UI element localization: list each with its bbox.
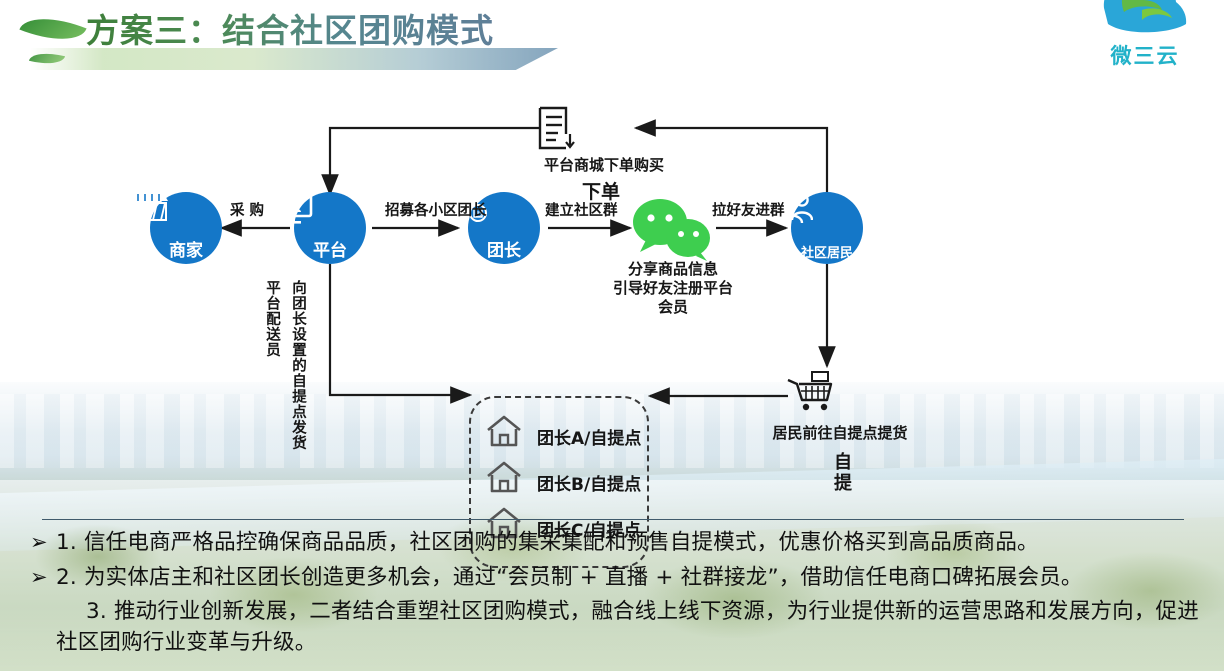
node-residents[interactable]: 社区居民 <box>791 192 863 264</box>
bullet-list: ➢ 1. 信任电商严格品控确保商品品质，社区团购的集采集配和预售自提模式，优惠价… <box>30 528 1210 662</box>
node-merchant[interactable]: 商家 <box>150 192 222 264</box>
bullet-text: 3. 推动行业创新发展，二者结合重塑社区团购模式，融合线上线下资源，为行业提供新… <box>56 597 1210 658</box>
leaf-icon <box>19 5 86 52</box>
brand-logo: 微三云 <box>1084 0 1206 78</box>
node-merchant-label: 商家 <box>150 243 222 260</box>
wechat-icon[interactable] <box>630 196 716 262</box>
page-title: 方案三：结合社区团购模式 <box>86 4 494 52</box>
slide-header: 方案三：结合社区团购模式 微三云 <box>0 0 1224 84</box>
storefront-icon <box>130 192 170 222</box>
note-ship-to-pickup: 向团长设置的自提点发货 <box>288 280 309 496</box>
edge-label-recruit: 招募各小区团长 <box>385 199 487 220</box>
self-pickup-title: 自提 <box>830 453 856 494</box>
flow-diagram: 下单 平台商城下单购买 商家 平台 <box>0 84 1224 504</box>
self-pickup-caption: 居民前往自提点提货 <box>715 424 965 443</box>
order-node-caption: 平台商城下单购买 <box>484 156 724 175</box>
list-item[interactable]: 团长A/自提点 <box>485 414 647 458</box>
pickup-point-label: 团长B/自提点 <box>537 470 641 495</box>
bullet-marker: ➢ <box>30 528 56 558</box>
node-platform-label: 平台 <box>294 243 366 260</box>
edge-label-purchase: 采 购 <box>230 199 264 220</box>
section-divider <box>42 519 1184 520</box>
list-item[interactable]: 团长B/自提点 <box>485 460 647 504</box>
edge-label-build-group: 建立社区群 <box>545 199 618 220</box>
house-icon <box>485 414 523 448</box>
bullet-text: 2. 为实体店主和社区团长创造更多机会，通过“会员制 + 直播 + 社群接龙”，… <box>56 563 1083 594</box>
bullet-item-2: ➢ 2. 为实体店主和社区团长创造更多机会，通过“会员制 + 直播 + 社群接龙… <box>30 563 1210 594</box>
wechat-caption: 分享商品信息 引导好友注册平台 会员 <box>583 260 763 316</box>
node-platform[interactable]: 平台 <box>294 192 366 264</box>
logo-text: 微三云 <box>1084 40 1206 70</box>
house-icon <box>485 460 523 494</box>
node-residents-label: 社区居民 <box>791 247 863 260</box>
note-delivery-staff: 平台配送员 <box>262 280 283 480</box>
edge-label-invite-friends: 拉好友进群 <box>712 199 785 220</box>
bullet-item-3: 3. 推动行业创新发展，二者结合重塑社区团购模式，融合线上线下资源，为行业提供新… <box>30 597 1210 658</box>
bullet-item-1: ➢ 1. 信任电商严格品控确保商品品质，社区团购的集采集配和预售自提模式，优惠价… <box>30 528 1210 559</box>
order-document-icon <box>536 104 578 154</box>
cloud-logo-mark <box>1098 0 1194 42</box>
bullet-text: 1. 信任电商严格品控确保商品品质，社区团购的集采集配和预售自提模式，优惠价格买… <box>56 528 1039 559</box>
shopping-cart-icon <box>786 370 836 412</box>
bullet-marker: ➢ <box>30 563 56 593</box>
pickup-point-label: 团长A/自提点 <box>537 424 641 449</box>
monitor-user-icon <box>274 192 314 224</box>
node-leader-label: 团长 <box>468 243 540 260</box>
